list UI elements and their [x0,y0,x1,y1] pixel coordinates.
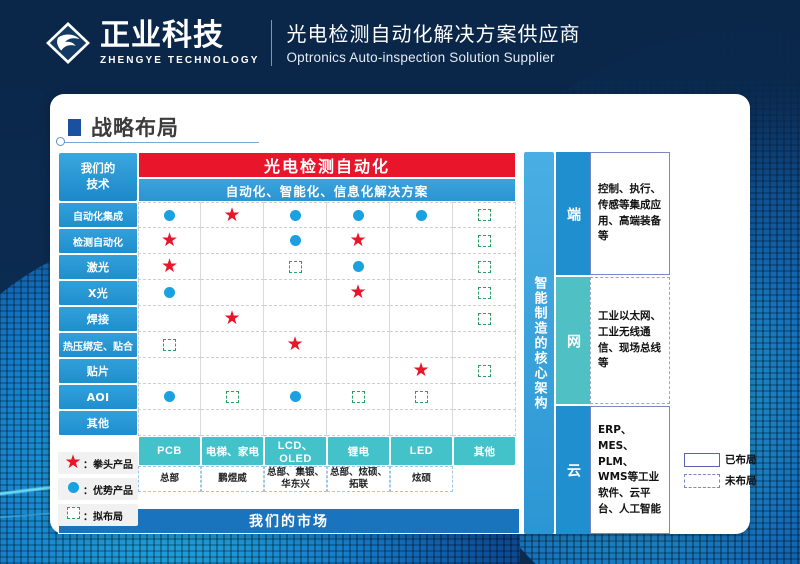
matrix-cell[interactable] [390,306,453,332]
matrix-row-label: 贴片 [58,358,138,384]
title-underline [62,142,259,143]
dot-icon [353,210,364,221]
subsidiary-cell: 鹏煜威 [201,466,264,492]
tech-header-line2: 技术 [59,177,137,193]
layer-tag-wang: 网 [556,277,590,404]
matrix-row-label: 热压绑定、贴合 [58,332,138,358]
star-icon: ★ [349,231,366,250]
layer-tag-duan-text: 端 [563,207,583,221]
star-icon: ★ [412,361,429,380]
legend-left-item: ：拟布局 [58,504,138,526]
layer-tag-wang-text: 网 [563,334,583,348]
matrix-cell[interactable] [264,228,327,254]
dot-icon [290,210,301,221]
matrix-row: X光★ [58,280,516,306]
matrix-row-label: 激光 [58,254,138,280]
matrix-cell[interactable] [390,384,453,410]
layer-desc-wang: 工业以太网、工业无线通信、现场总线等 [590,277,670,404]
dot-icon [68,482,79,493]
matrix-cell[interactable] [453,254,516,280]
star-icon: ★ [161,257,178,276]
dot-icon [164,391,175,402]
star-icon: ★ [223,206,240,225]
matrix-cell[interactable] [201,332,264,358]
star-icon: ★ [286,335,303,354]
strategy-matrix: 我们的技术光电检测自动化自动化、智能化、信息化解决方案自动化集成★检测自动化★★… [58,152,516,492]
matrix-row: 检测自动化★★ [58,228,516,254]
legend-left-item: ★：拳头产品 [58,452,138,474]
matrix-row: 其他 [58,410,516,436]
matrix-cell[interactable] [138,410,201,436]
matrix-row: AOI [58,384,516,410]
matrix-cell[interactable] [390,228,453,254]
planned-box-icon [478,313,491,325]
star-icon: ★ [64,453,81,472]
banner-sub: 自动化、智能化、信息化解决方案 [138,178,516,202]
matrix-cell[interactable] [327,358,390,384]
matrix-cell[interactable] [264,384,327,410]
matrix-cell[interactable] [327,306,390,332]
header-divider [271,20,272,66]
matrix-row-label: 检测自动化 [58,228,138,254]
dot-icon [164,210,175,221]
layer-tag-yun: 云 [556,406,590,534]
matrix-cell[interactable] [453,384,516,410]
subsidiary-cell: 总部 [138,466,201,492]
legend-label: ：优势产品 [83,482,133,497]
page-title-text: 战略布局 [91,112,179,142]
matrix-row-label: 自动化集成 [58,202,138,228]
matrix-cell[interactable] [390,410,453,436]
matrix-row: 自动化集成★ [58,202,516,228]
product-header-cell[interactable]: LCD、OLED [264,436,327,466]
matrix-cell[interactable] [264,358,327,384]
matrix-cell[interactable] [138,306,201,332]
dot-icon [290,235,301,246]
legend-left: ★：拳头产品：优势产品：拟布局 [58,452,138,530]
legend-right-label: 已布局 [725,452,757,467]
planned-box-icon [352,391,365,403]
legend-box-icon [684,453,720,467]
matrix-row-label: X光 [58,280,138,306]
matrix-cell[interactable] [327,202,390,228]
dot-icon [353,261,364,272]
layer-tag-yun-text: 云 [563,463,583,477]
matrix-cell[interactable] [201,358,264,384]
matrix-row: 贴片★ [58,358,516,384]
matrix-cell[interactable] [453,358,516,384]
planned-box-icon [478,235,491,247]
matrix-cell[interactable]: ★ [201,306,264,332]
star-icon: ★ [161,231,178,250]
matrix-cell[interactable] [327,332,390,358]
legend-symbol [64,506,82,524]
planned-box-icon [67,507,80,519]
matrix-cell[interactable] [138,358,201,384]
layer-desc-yun: ERP、MES、PLM、WMS等工业软件、云平台、人工智能 [590,406,670,534]
matrix-cell[interactable] [327,410,390,436]
matrix-cell[interactable]: ★ [201,202,264,228]
matrix-cell[interactable] [138,332,201,358]
planned-box-icon [415,391,428,403]
dot-icon [164,287,175,298]
logo-english-name: ZHENGYE TECHNOLOGY [100,55,259,66]
layer-tag-duan: 端 [556,152,590,275]
matrix-row: 热压绑定、贴合★ [58,332,516,358]
matrix-cell[interactable]: ★ [138,228,201,254]
matrix-cell[interactable] [264,306,327,332]
matrix-cell[interactable] [201,280,264,306]
legend-label: ：拳头产品 [83,456,133,471]
legend-right: 已布局未布局 [684,452,757,494]
product-header-cell[interactable]: 其他 [453,436,516,466]
legend-left-item: ：优势产品 [58,478,138,500]
architecture-layer-wang: 网 工业以太网、工业无线通信、现场总线等 [556,277,670,404]
product-header-cell[interactable]: LED [390,436,453,466]
matrix-row-label: 焊接 [58,306,138,332]
planned-box-icon [478,365,491,377]
legend-label: ：拟布局 [83,508,123,523]
matrix-cell[interactable] [138,280,201,306]
matrix-cell[interactable]: ★ [327,228,390,254]
matrix-row-label: AOI [58,384,138,410]
title-square-marker [68,119,81,136]
tech-header-line1: 我们的 [59,161,137,177]
subsidiary-cell: 总部、集银、华东兴 [264,466,327,492]
matrix-cell[interactable] [138,384,201,410]
star-icon: ★ [349,283,366,302]
slogan-chinese: 光电检测自动化解决方案供应商 [286,22,580,47]
planned-box-icon [163,339,176,351]
matrix-cell[interactable] [201,410,264,436]
matrix-table: 我们的技术光电检测自动化自动化、智能化、信息化解决方案自动化集成★检测自动化★★… [58,152,516,492]
logo-chinese-name: 正业科技 [100,21,259,51]
matrix-cell[interactable] [390,332,453,358]
legend-box-icon [684,474,720,488]
matrix-cell[interactable] [201,254,264,280]
matrix-cell[interactable]: ★ [264,332,327,358]
product-header-cell[interactable]: 锂电 [327,436,390,466]
planned-box-icon [478,261,491,273]
matrix-tech-header: 我们的技术 [58,152,138,202]
matrix-cell[interactable] [453,410,516,436]
dot-icon [416,210,427,221]
matrix-row: 焊接★ [58,306,516,332]
matrix-cell[interactable]: ★ [390,358,453,384]
banner-main: 光电检测自动化 [138,152,516,178]
subsidiary-cell: 炫硕 [390,466,453,492]
matrix-cell[interactable] [453,228,516,254]
legend-right-item: 未布局 [684,473,757,488]
matrix-cell[interactable] [264,280,327,306]
matrix-cell[interactable] [453,280,516,306]
market-bar-label: 我们的市场 [249,511,329,531]
zhengye-logo-icon [44,21,92,65]
matrix-cell[interactable] [453,306,516,332]
page-title: 战略布局 [68,112,179,142]
layer-desc-duan: 控制、执行、传感等集成应用、高端装备等 [590,152,670,275]
star-icon: ★ [223,309,240,328]
planned-box-icon [478,209,491,221]
matrix-cell[interactable] [327,384,390,410]
page-header: 正业科技 ZHENGYE TECHNOLOGY 光电检测自动化解决方案供应商 O… [0,0,800,86]
matrix-cell[interactable] [390,202,453,228]
product-header-cell[interactable]: 电梯、家电 [201,436,264,466]
matrix-cell[interactable] [453,202,516,228]
subsidiary-cell: 总部、炫硕、拓联 [327,466,390,492]
matrix-cell[interactable]: ★ [138,254,201,280]
matrix-cell[interactable] [390,280,453,306]
slogan-english: Optronics Auto-inspection Solution Suppl… [286,50,580,65]
architecture-title-column: 智能制造的核心架构 [524,152,554,534]
matrix-cell[interactable]: ★ [327,280,390,306]
title-bullet-dot [56,137,65,146]
legend-symbol [64,480,82,498]
matrix-cell[interactable] [138,202,201,228]
matrix-cell[interactable] [264,410,327,436]
matrix-cell[interactable] [390,254,453,280]
architecture-layer-duan: 端 控制、执行、传感等集成应用、高端装备等 [556,152,670,275]
matrix-cell[interactable] [327,254,390,280]
legend-symbol: ★ [64,453,82,473]
subsidiary-cell [453,466,516,492]
matrix-cell[interactable] [201,228,264,254]
architecture-title-text: 智能制造的核心架构 [530,276,549,411]
matrix-cell[interactable] [264,254,327,280]
matrix-cell[interactable] [201,384,264,410]
matrix-cell[interactable] [264,202,327,228]
architecture-layer-yun: 云 ERP、MES、PLM、WMS等工业软件、云平台、人工智能 [556,406,670,534]
planned-box-icon [289,261,302,273]
dot-icon [290,391,301,402]
legend-right-label: 未布局 [725,473,757,488]
matrix-row-label: 其他 [58,410,138,436]
product-header-cell[interactable]: PCB [138,436,201,466]
matrix-cell[interactable] [453,332,516,358]
planned-box-icon [478,287,491,299]
matrix-row: 激光★ [58,254,516,280]
planned-box-icon [226,391,239,403]
legend-right-item: 已布局 [684,452,757,467]
